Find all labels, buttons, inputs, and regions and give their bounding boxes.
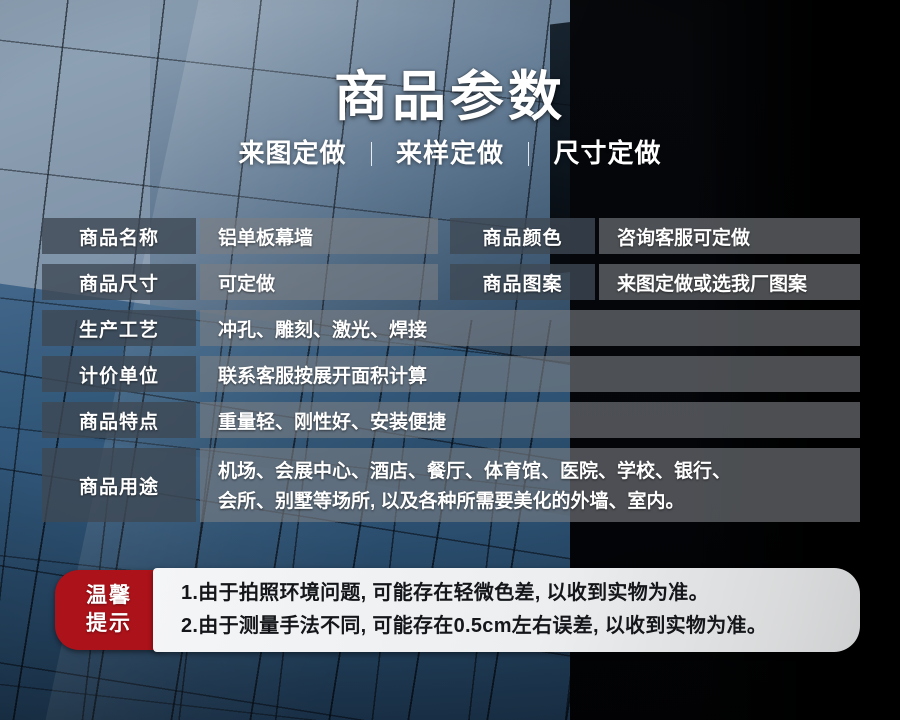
spec-label: 商品用途 [42,448,196,522]
table-row: 商品用途 机场、会展中心、酒店、餐厅、体育馆、医院、学校、银行、 会所、别墅等场… [42,448,860,522]
spec-label: 商品图案 [450,264,595,300]
page-title: 商品参数 [0,52,900,131]
table-row: 商品特点 重量轻、刚性好、安装便捷 [42,402,860,438]
product-spec-banner: 商品参数 来图定做 来样定做 尺寸定做 商品名称 铝单板幕墙 商品颜色 咨询客服… [0,0,900,720]
spec-value: 机场、会展中心、酒店、餐厅、体育馆、医院、学校、银行、 会所、别墅等场所, 以及… [200,448,860,522]
spec-value: 可定做 [200,264,438,300]
table-row: 商品名称 铝单板幕墙 商品颜色 咨询客服可定做 [42,218,860,254]
subtitle-divider-2 [528,142,529,166]
spec-value-line: 机场、会展中心、酒店、餐厅、体育馆、医院、学校、银行、 [218,457,860,487]
tips-badge: 温馨 提示 [55,570,163,650]
spec-value: 重量轻、刚性好、安装便捷 [200,402,860,438]
subtitle-item-3: 尺寸定做 [553,138,661,168]
spec-label: 商品颜色 [450,218,595,254]
spec-label: 生产工艺 [42,310,196,346]
spec-table: 商品名称 铝单板幕墙 商品颜色 咨询客服可定做 商品尺寸 可定做 商品图案 来图… [42,218,860,522]
table-row: 生产工艺 冲孔、雕刻、激光、焊接 [42,310,860,346]
spec-value: 来图定做或选我厂图案 [599,264,860,300]
spec-value-line: 会所、别墅等场所, 以及各种所需要美化的外墙、室内。 [218,487,860,517]
subtitle-item-1: 来图定做 [239,138,347,168]
tips-note: 1.由于拍照环境问题, 可能存在轻微色差, 以收到实物为准。 [181,577,860,610]
spec-value: 冲孔、雕刻、激光、焊接 [200,310,860,346]
spec-label: 计价单位 [42,356,196,392]
subtitle-item-2: 来样定做 [396,138,504,168]
spec-label: 商品特点 [42,402,196,438]
spec-label: 商品尺寸 [42,264,196,300]
subtitle-row: 来图定做 来样定做 尺寸定做 [0,133,900,170]
tips-section: 温馨 提示 1.由于拍照环境问题, 可能存在轻微色差, 以收到实物为准。 2.由… [55,568,860,652]
tips-note: 2.由于测量手法不同, 可能存在0.5cm左右误差, 以收到实物为准。 [181,610,860,643]
spec-value: 铝单板幕墙 [200,218,438,254]
spec-value: 联系客服按展开面积计算 [200,356,860,392]
spec-label: 商品名称 [42,218,196,254]
tips-badge-line-2: 提示 [86,610,132,638]
tips-badge-line-1: 温馨 [86,582,132,610]
table-row: 商品尺寸 可定做 商品图案 来图定做或选我厂图案 [42,264,860,300]
subtitle-divider-1 [371,142,372,166]
spec-value: 咨询客服可定做 [599,218,860,254]
tips-body: 1.由于拍照环境问题, 可能存在轻微色差, 以收到实物为准。 2.由于测量手法不… [153,568,860,652]
content-layer: 商品参数 来图定做 来样定做 尺寸定做 商品名称 铝单板幕墙 商品颜色 咨询客服… [0,0,900,720]
table-row: 计价单位 联系客服按展开面积计算 [42,356,860,392]
